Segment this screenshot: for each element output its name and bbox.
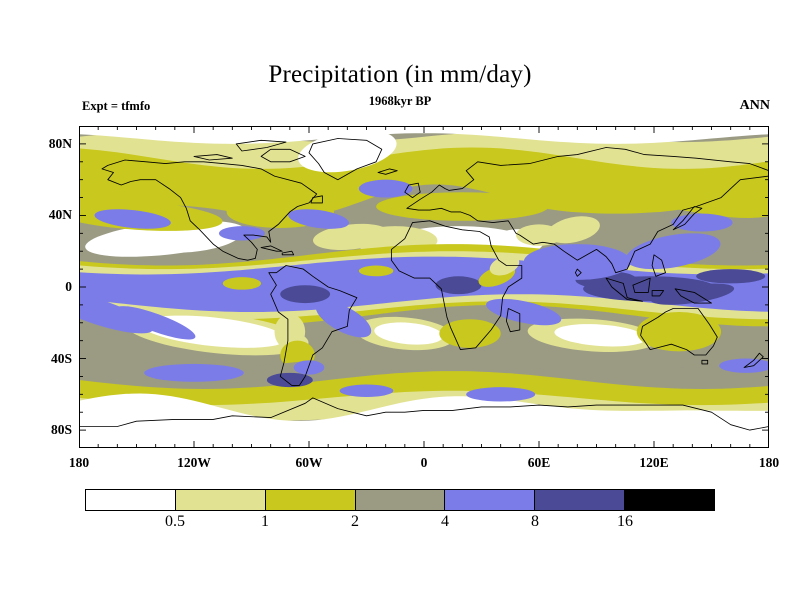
x-tick-label: 180: [69, 455, 89, 471]
x-axis-labels: 180120W60W060E120E180: [79, 455, 769, 477]
colorbar-tick-labels: 0.5124816: [85, 513, 715, 537]
precip-blob-weddell-wet: [340, 384, 394, 397]
precip-blob-patagonia-wet: [294, 360, 325, 374]
page-title: Precipitation (in mm/day): [0, 61, 800, 89]
y-tick-label: 0: [26, 279, 72, 295]
precip-blob-gulf-mexico-wet: [219, 226, 265, 240]
x-tick-label: 60W: [296, 455, 323, 471]
colorbar-swatch: [535, 490, 625, 510]
colorbar-tick-label: 0.5: [165, 513, 185, 531]
x-tick-label: 0: [421, 455, 428, 471]
colorbar-swatch: [86, 490, 176, 510]
colorbar-tick-label: 16: [617, 513, 633, 531]
colorbar-swatch: [266, 490, 356, 510]
colorbar-swatch: [176, 490, 266, 510]
precip-blob-siberia-yellow: [520, 181, 712, 213]
precip-blob-atlantic-itcz-gap: [359, 266, 394, 277]
colorbar-tick-label: 8: [531, 513, 539, 531]
precip-blob-southern-ocean-wet: [466, 387, 535, 401]
precip-blob-epacific-itcz-gap: [223, 277, 261, 290]
season-label: ANN: [740, 98, 770, 114]
precip-blob-australia-interior: [650, 317, 704, 342]
y-axis-labels: 80N40N040S80S: [22, 126, 72, 448]
precip-blob-natlantic-storm-wet: [359, 180, 413, 198]
precip-blob-warm-pool-wet: [696, 269, 765, 283]
experiment-label: Expt = tfmfo: [82, 99, 150, 114]
precip-blob-southern-africa-yellow: [439, 319, 500, 348]
colorbar: [85, 489, 715, 511]
x-tick-label: 180: [759, 455, 779, 471]
colorbar-swatch: [625, 490, 714, 510]
colorbar-swatch: [445, 490, 535, 510]
colorbar-tick-label: 4: [441, 513, 449, 531]
y-tick-label: 80N: [26, 136, 72, 152]
map-plot-area: [79, 126, 769, 448]
colorbar-swatch: [356, 490, 446, 510]
y-tick-label: 40N: [26, 207, 72, 223]
precip-blob-congo-wet: [436, 276, 482, 294]
x-tick-label: 120E: [639, 455, 668, 471]
x-tick-label: 120W: [177, 455, 211, 471]
precip-blob-amazon-wet: [280, 285, 330, 303]
precip-blob-spacific-midlat-wet: [144, 364, 244, 382]
y-tick-label: 80S: [26, 422, 72, 438]
colorbar-tick-label: 1: [261, 513, 269, 531]
precipitation-map-figure: Precipitation (in mm/day) 1968kyr BP Exp…: [0, 0, 800, 600]
x-tick-label: 60E: [528, 455, 551, 471]
precip-blob-indian-monsoon: [524, 244, 631, 280]
colorbar-tick-label: 2: [351, 513, 359, 531]
y-tick-label: 40S: [26, 351, 72, 367]
